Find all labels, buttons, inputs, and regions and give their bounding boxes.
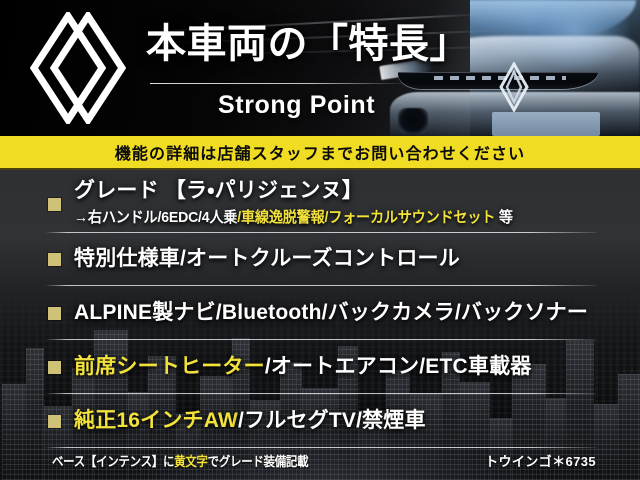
- feature-4-title-white: /オートエアコン/ETC車載器: [265, 355, 532, 378]
- footer-note-white-1: ベース【インテンス】に: [52, 454, 174, 469]
- header-banner: 本車両の「特長」 Strong Point: [0, 0, 640, 136]
- footer-note-white-2: でグレード装備記載: [208, 454, 309, 469]
- feature-1-detail: →右ハンドル/6EDC/4人乗/車線逸脱警報/フォーカルサウンドセット 等: [74, 208, 513, 227]
- title-divider: [150, 83, 408, 84]
- feature-5-title-yellow: 純正16インチAW: [74, 409, 238, 432]
- row-divider: [45, 232, 596, 233]
- feature-1-detail-yellow: /車線逸脱警報/フォーカルサウンドセット: [237, 209, 495, 226]
- feature-4-title-yellow: 前席シートヒーター: [74, 355, 265, 378]
- row-divider: [45, 285, 596, 286]
- square-bullet-icon: [48, 415, 61, 428]
- strong-point-slide: 本車両の「特長」 Strong Point 機能の詳細は店舗スタッフまでお問い合…: [0, 0, 640, 480]
- page-title: 本車両の「特長」: [146, 19, 470, 69]
- feature-5-title: 純正16インチAW/フルセグTV/禁煙車: [74, 408, 426, 434]
- footer-model-code: トウインゴ＊6735: [485, 451, 596, 470]
- feature-3-title: ALPINE製ナビ/Bluetooth/バックカメラ/バックソナー: [74, 300, 588, 326]
- square-bullet-icon: [48, 361, 61, 374]
- feature-1-title: グレード 【ラ・パリジェンヌ】: [74, 178, 363, 204]
- feature-1-detail-white-2: 等: [495, 209, 513, 226]
- car-foglight: [398, 108, 428, 134]
- feature-4-title: 前席シートヒーター/オートエアコン/ETC車載器: [74, 354, 531, 380]
- square-bullet-icon: [48, 307, 61, 320]
- footer-note: ベース【インテンス】に黄文字でグレード装備記載: [52, 451, 308, 470]
- contact-banner: 機能の詳細は店舗スタッフまでお問い合わせください: [0, 136, 640, 170]
- renault-badge-icon: [494, 62, 534, 112]
- renault-diamond-logo-icon: [30, 12, 126, 124]
- square-bullet-icon: [48, 198, 61, 211]
- footer: ベース【インテンス】に黄文字でグレード装備記載 トウインゴ＊6735: [0, 448, 640, 480]
- feature-1-detail-white-1: →右ハンドル/6EDC/4人乗: [74, 209, 237, 226]
- car-license-plate: [492, 112, 600, 136]
- feature-2-title: 特別仕様車/オートクルーズコントロール: [74, 246, 460, 272]
- page-subtitle: Strong Point: [218, 88, 375, 122]
- row-divider: [45, 339, 596, 340]
- square-bullet-icon: [48, 253, 61, 266]
- footer-note-yellow: 黄文字: [174, 454, 208, 469]
- features-panel: グレード 【ラ・パリジェンヌ】 →右ハンドル/6EDC/4人乗/車線逸脱警報/フ…: [0, 170, 640, 480]
- row-divider: [45, 393, 596, 394]
- feature-5-title-white: /フルセグTV/禁煙車: [238, 409, 426, 432]
- contact-banner-text: 機能の詳細は店舗スタッフまでお問い合わせください: [115, 140, 525, 164]
